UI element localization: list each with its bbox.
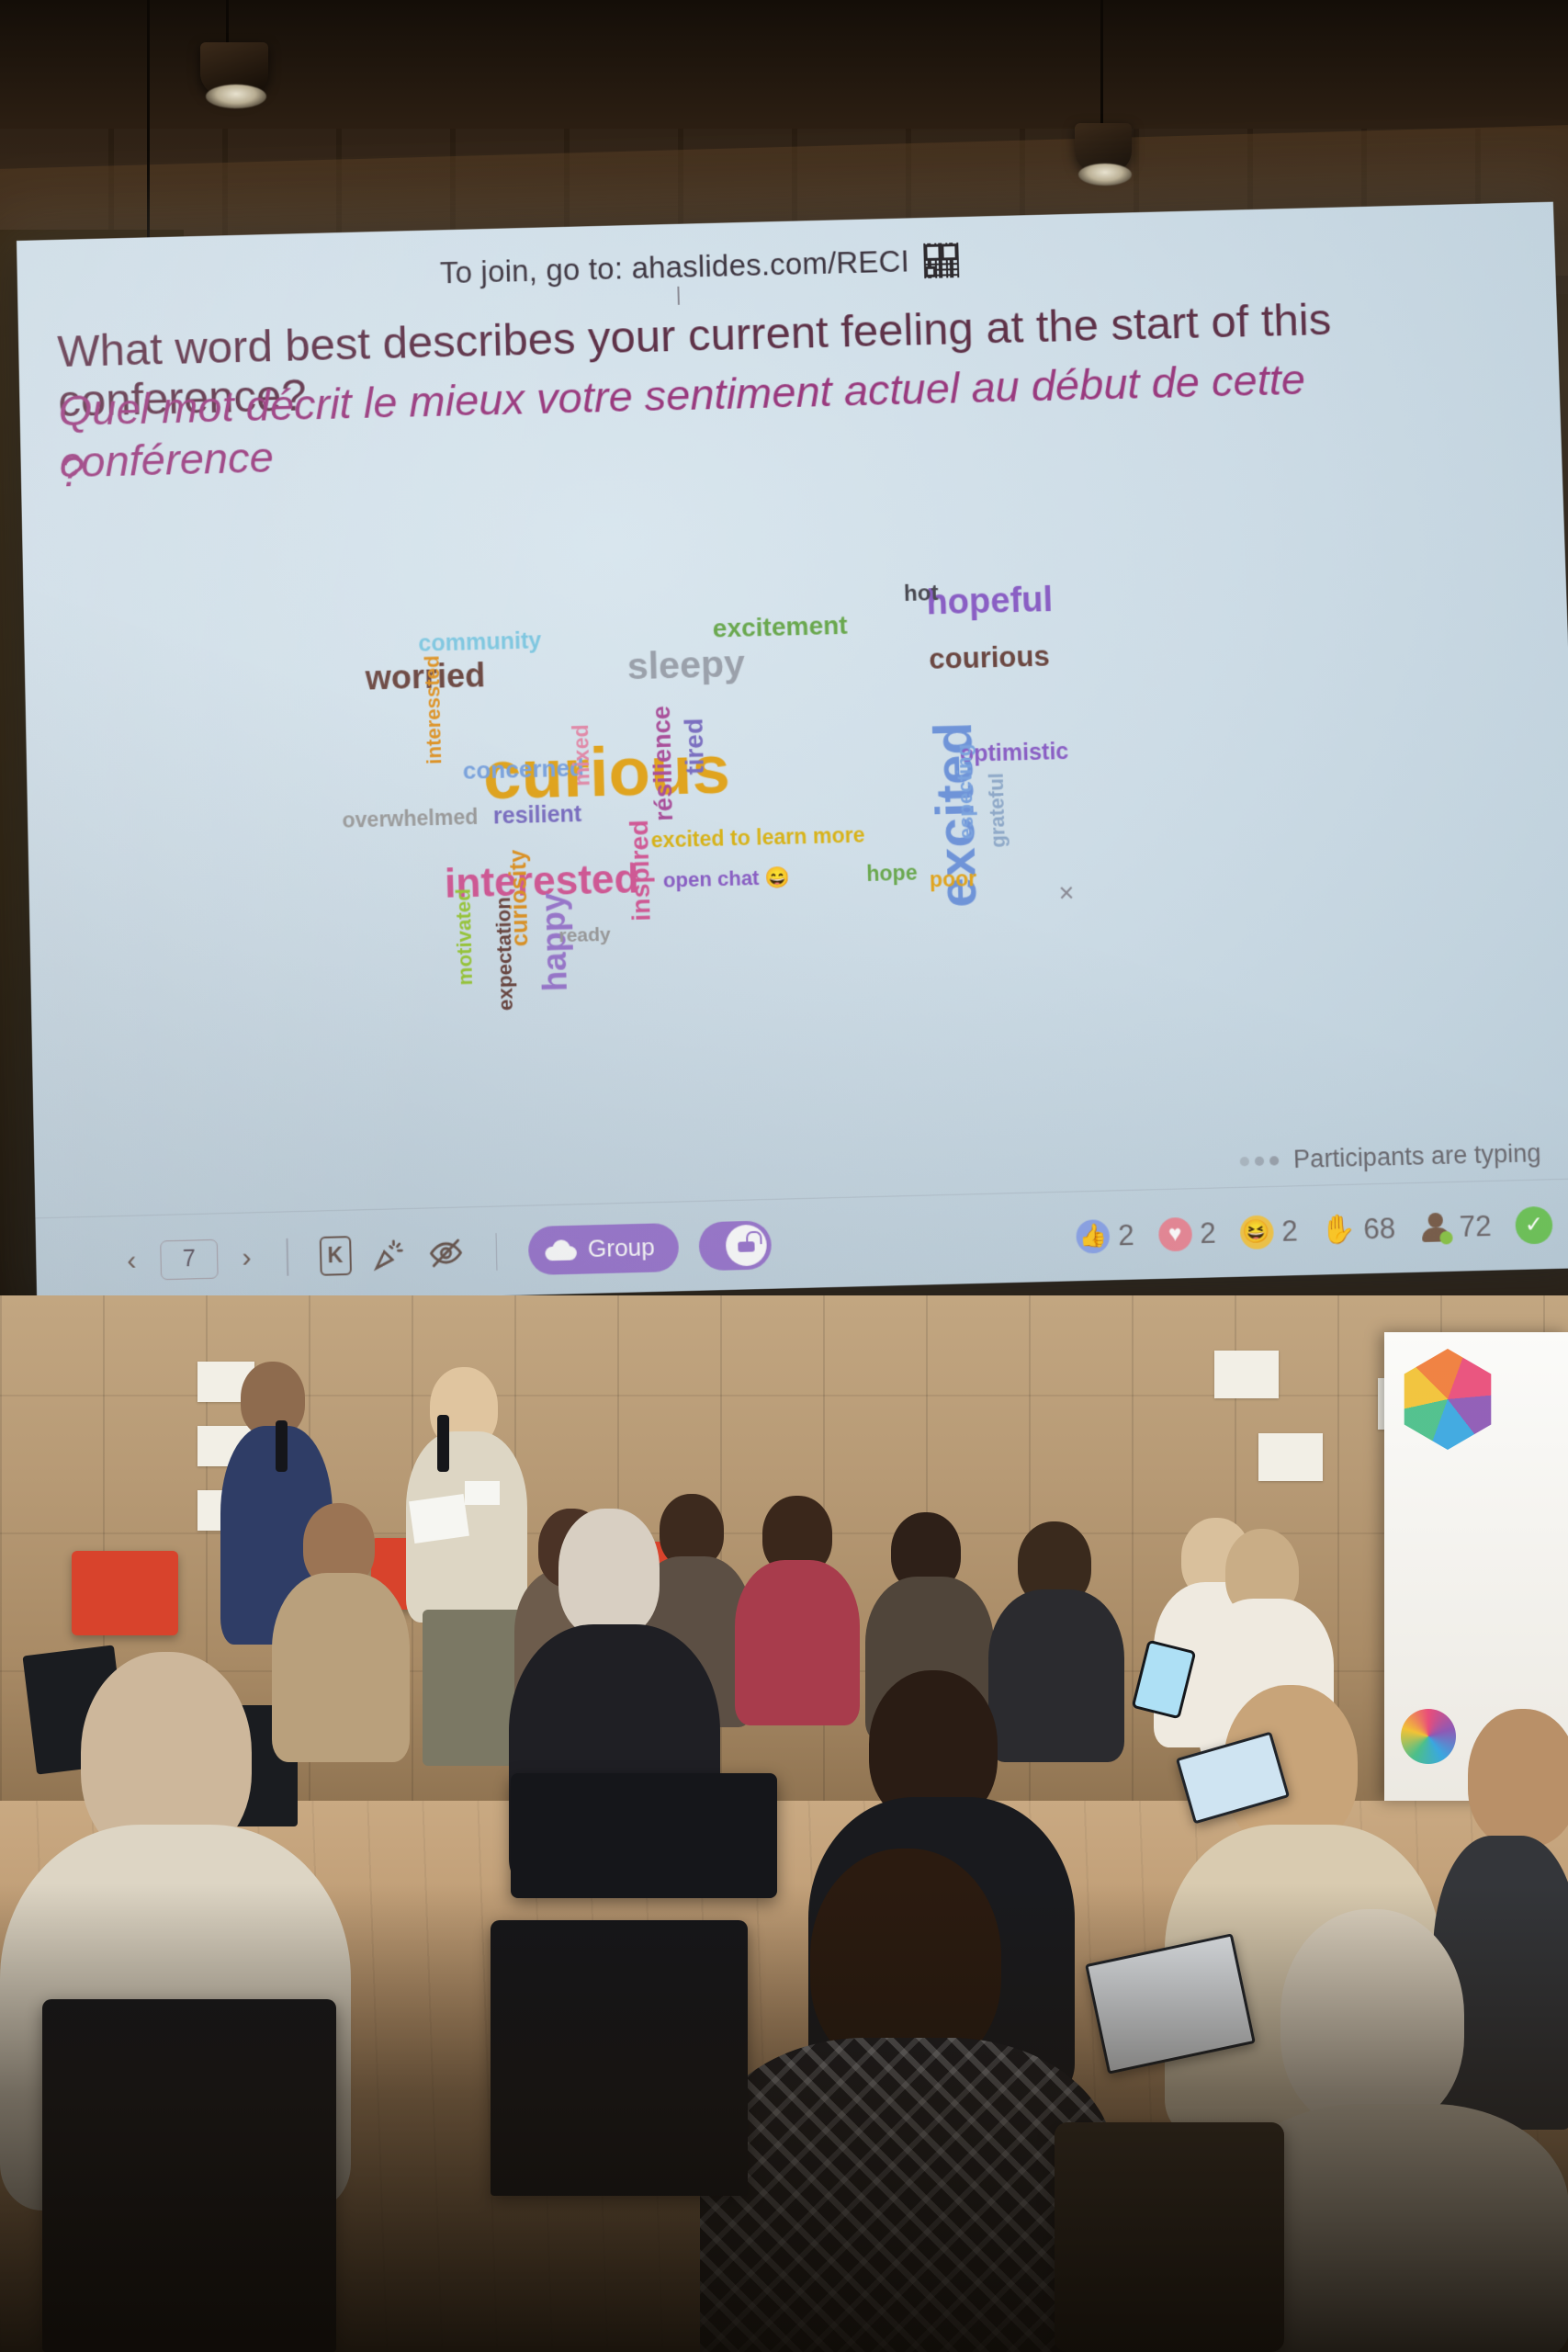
participants-counter[interactable]: 72 (1419, 1209, 1492, 1245)
participant-icon (1419, 1211, 1451, 1244)
word-cloud-item: expectation (493, 897, 516, 1011)
audience-body (272, 1573, 410, 1762)
foreground-shadow (0, 1883, 1568, 2352)
word-cloud-item: tired (682, 718, 709, 775)
word-cloud-item: mixed (570, 724, 593, 786)
lamp-cord (1100, 0, 1103, 129)
connection-status-icon: ✓ (1515, 1205, 1553, 1244)
word-cloud-item: excitement (712, 613, 848, 642)
microphone (437, 1415, 449, 1472)
heart-icon: ♥ (1157, 1216, 1191, 1251)
word-cloud-item: résilience (649, 706, 677, 821)
word-cloud-item: community (418, 629, 541, 656)
reaction-heart[interactable]: ♥2 (1157, 1216, 1216, 1251)
conference-room-photo: To join, go to: ahaslides.com/RECI What … (0, 0, 1568, 2352)
slide-number-input[interactable]: 7 (160, 1238, 218, 1279)
toolbar-divider (495, 1233, 497, 1271)
typing-indicator: Participants are typing (1239, 1139, 1541, 1176)
chair (511, 1773, 777, 1898)
thumbs-up-icon: 👍 (1076, 1219, 1110, 1254)
word-cloud-item: concerned (462, 755, 584, 783)
handout-paper (409, 1494, 469, 1543)
audience-body (988, 1589, 1124, 1762)
word-cloud-item: open chat 😄 (663, 867, 791, 891)
audience-head (558, 1509, 660, 1637)
word-cloud-item: courious (929, 641, 1050, 673)
text-cursor (677, 287, 680, 305)
group-button[interactable]: Group (528, 1222, 680, 1274)
word-cloud-item: excited to learn more (651, 824, 865, 851)
reaction-count: 2 (1200, 1216, 1217, 1250)
word-cloud-item: hopeful (926, 582, 1054, 621)
keyboard-shortcut-icon[interactable]: K (319, 1236, 351, 1276)
participants-count: 72 (1459, 1209, 1492, 1244)
word-cloud-item: grateful (987, 773, 1009, 848)
microphone (276, 1420, 288, 1472)
banner-secondary-logo (1401, 1709, 1456, 1764)
presenter-toolbar: ‹ 7 › K (35, 1178, 1568, 1307)
word-cloud-item: ready (558, 924, 611, 945)
lock-toggle[interactable] (699, 1220, 773, 1271)
word-cloud-item: especting (954, 743, 977, 839)
word-cloud-item: hot (904, 582, 939, 605)
word-cloud-item: interessted (422, 655, 445, 764)
reaction-raised-hand[interactable]: ✋68 (1321, 1212, 1395, 1248)
word-cloud-item: overwhelmed (342, 806, 478, 831)
hide-results-icon[interactable] (426, 1234, 464, 1272)
projection-screen: To join, go to: ahaslides.com/RECI What … (17, 202, 1568, 1308)
reaction-count: 2 (1281, 1214, 1299, 1248)
raised-hand-icon: ✋ (1321, 1213, 1355, 1248)
banner-logo (1397, 1349, 1498, 1450)
reaction-count: 2 (1118, 1218, 1134, 1252)
lamp-cord (226, 0, 229, 48)
audience-head (1468, 1709, 1568, 1847)
close-icon[interactable]: ✕ (1057, 881, 1075, 906)
menu-icon[interactable] (71, 1249, 103, 1274)
join-instruction: To join, go to: ahaslides.com/RECI (439, 243, 959, 290)
word-cloud-item: motivated (453, 888, 476, 986)
typing-dots-icon (1240, 1156, 1280, 1166)
previous-slide-button[interactable]: ‹ (123, 1245, 141, 1277)
reaction-count: 68 (1363, 1212, 1396, 1247)
reaction-laugh[interactable]: 😆2 (1239, 1214, 1298, 1249)
confetti-icon[interactable] (371, 1236, 407, 1272)
question-french-tail: ? (59, 446, 84, 497)
toolbar-divider (286, 1238, 288, 1275)
wall-notice (1258, 1433, 1323, 1481)
next-slide-button[interactable]: › (238, 1241, 255, 1273)
reaction-thumbs-up[interactable]: 👍2 (1076, 1218, 1134, 1253)
lamp-bulb-glow (206, 85, 266, 108)
group-button-label: Group (587, 1233, 655, 1263)
cloud-icon (545, 1239, 577, 1261)
audience-body (735, 1560, 860, 1725)
word-cloud: curiousexcitedinterestedsleepyhopefulwor… (22, 505, 1568, 944)
word-cloud-item: hope (866, 862, 918, 885)
unlock-icon (726, 1224, 768, 1266)
typing-indicator-label: Participants are typing (1293, 1139, 1541, 1174)
lamp-bulb-glow (1078, 164, 1132, 186)
word-cloud-item: sleepy (626, 644, 745, 685)
wall-notice (1214, 1351, 1279, 1398)
word-cloud-item: poor (930, 867, 977, 890)
join-instruction-text: To join, go to: ahaslides.com/RECI (439, 243, 909, 290)
name-badge (465, 1481, 500, 1505)
qr-code-icon (923, 243, 959, 278)
stage-chair (72, 1551, 178, 1635)
word-cloud-item: resilient (493, 802, 582, 828)
laugh-icon: 😆 (1239, 1215, 1273, 1249)
reaction-counters: 👍2♥2😆2✋6872✓ (1076, 1205, 1552, 1255)
ahaslides-slide: To join, go to: ahaslides.com/RECI What … (17, 202, 1568, 1308)
